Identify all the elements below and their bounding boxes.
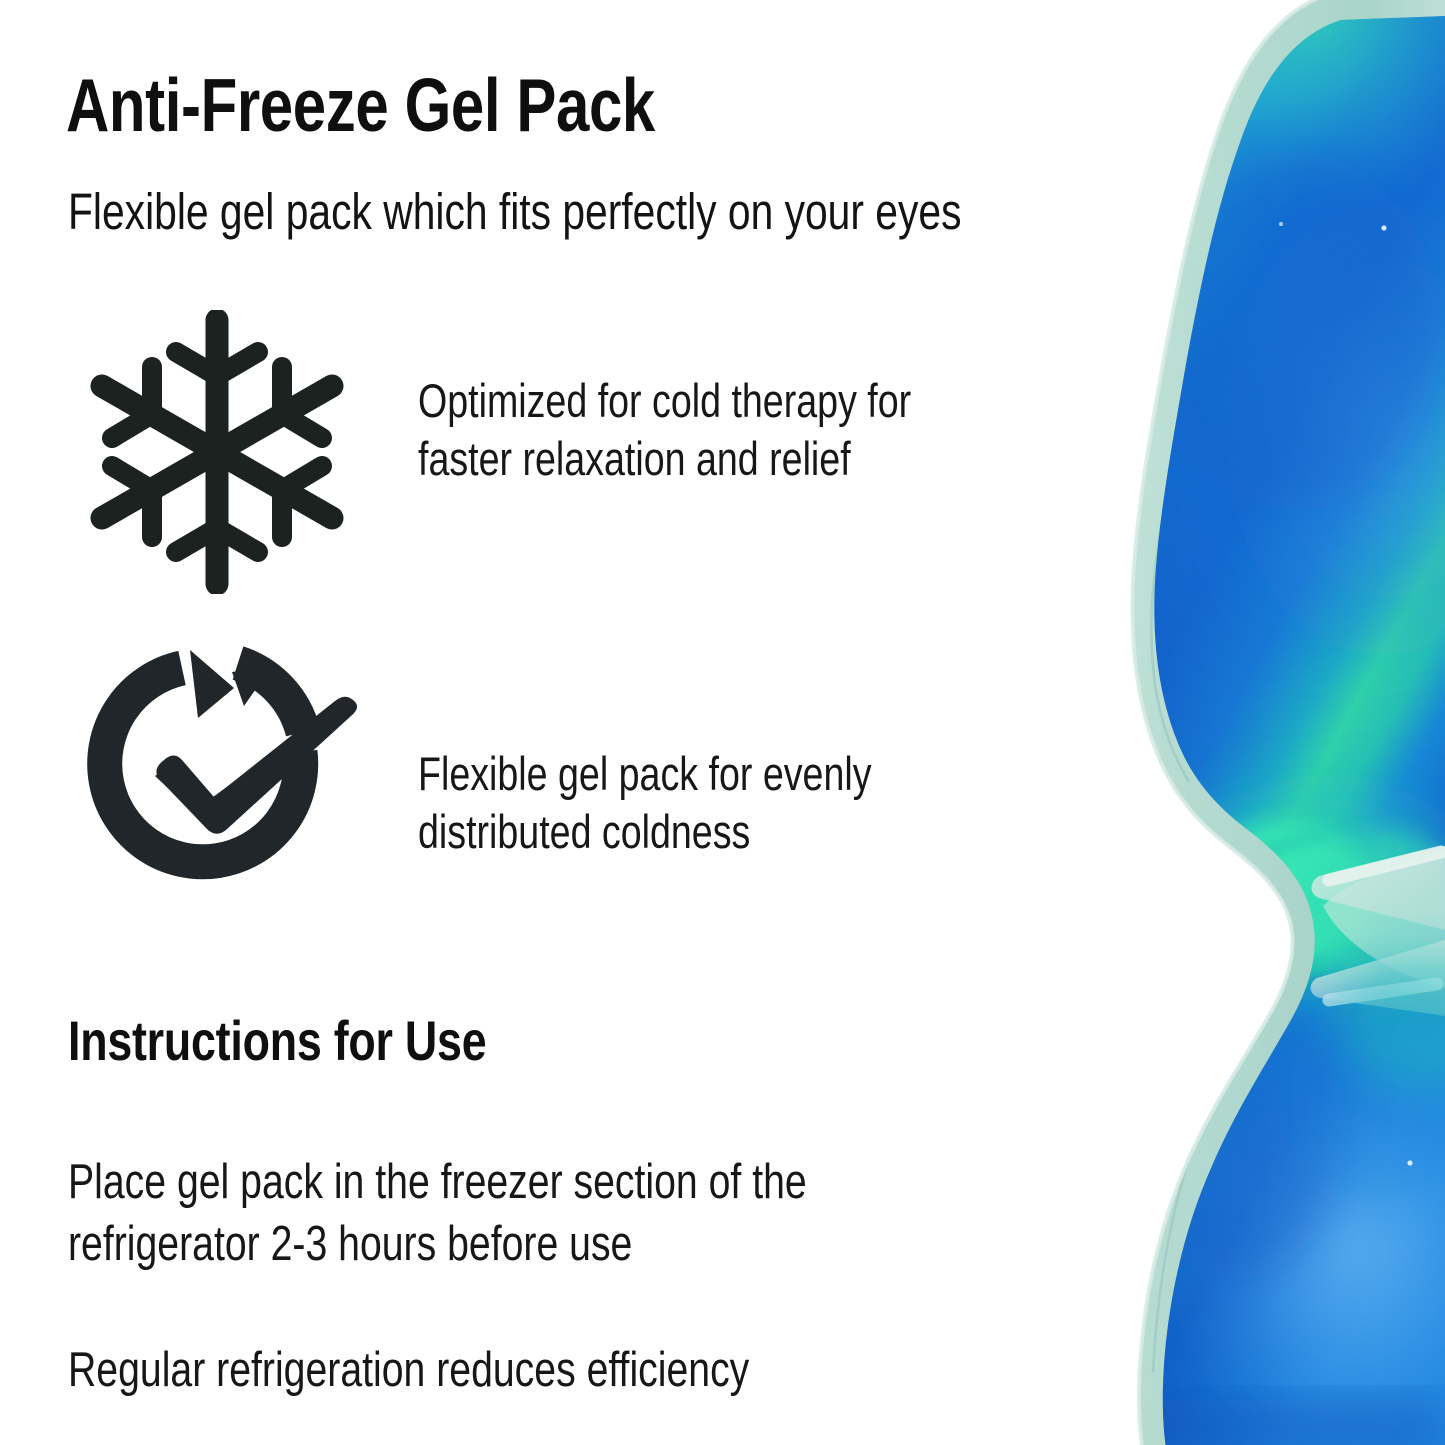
instructions-heading: Instructions for Use — [68, 1008, 486, 1073]
feature-line-1: Optimized for cold therapy for — [418, 374, 911, 427]
text-column: Anti-Freeze Gel Pack Flexible gel pack w… — [0, 0, 1095, 1445]
feature-label: Optimized for cold therapy forfaster rel… — [418, 372, 911, 489]
page-title: Anti-Freeze Gel Pack — [66, 62, 655, 148]
gel-pack-gel — [1085, 0, 1445, 1445]
feature-line-2: distributed coldness — [418, 805, 750, 858]
gel-pack-photo — [1085, 0, 1445, 1445]
feature-line-1: Flexible gel pack for evenly — [418, 747, 872, 800]
refresh-check-icon — [86, 644, 361, 885]
feature-line-2: faster relaxation and relief — [418, 432, 851, 485]
infographic-canvas: Anti-Freeze Gel Pack Flexible gel pack w… — [0, 0, 1445, 1445]
page-subtitle: Flexible gel pack which fits perfectly o… — [68, 182, 961, 241]
instruction-step: Place gel pack in the freezer section of… — [68, 1152, 807, 1275]
feature-label: Flexible gel pack for evenlydistributed … — [418, 745, 872, 862]
snowflake-icon — [86, 310, 348, 599]
instruction-step: Regular refrigeration reduces efficiency — [68, 1340, 749, 1402]
